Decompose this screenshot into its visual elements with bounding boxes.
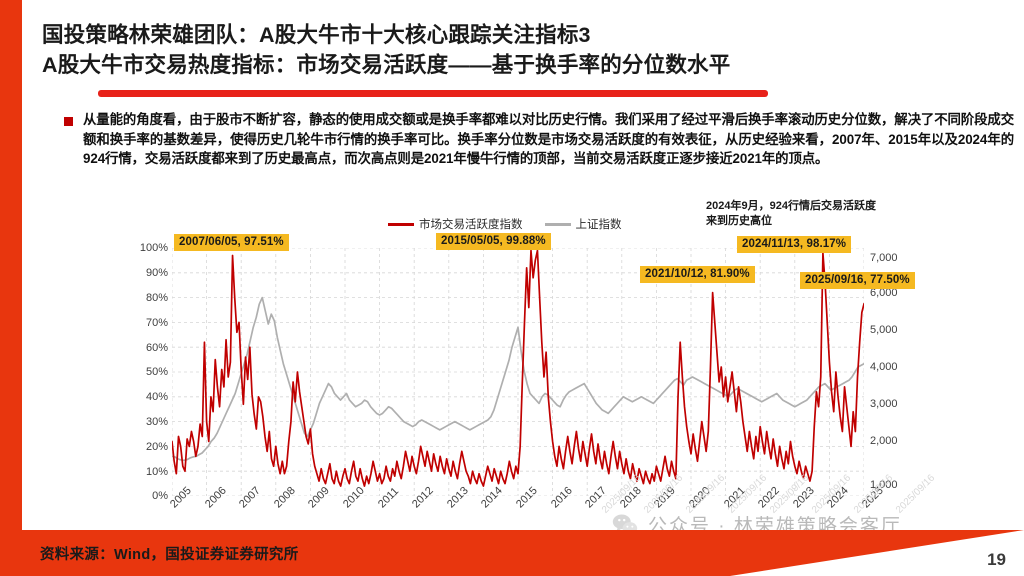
callout-peak-2021: 2021/10/12, 81.90% [640,266,755,283]
title-underline-rule [98,90,768,97]
chart-gridlines [172,248,864,496]
y-tick-90: 90% [124,267,168,279]
y-tick-70: 70% [124,317,168,329]
y-tick-50: 50% [124,366,168,378]
left-accent-bar [0,0,22,576]
callout-peak-2007: 2007/06/05, 97.51% [174,234,289,251]
page-title: 国投策略林荣雄团队：A股大牛市十大核心跟踪关注指标3 A股大牛市交易热度指标：市… [42,20,1022,80]
bullet-square-icon [64,117,73,126]
body-text: 从量能的角度看，由于股市不断扩容，静态的使用成交额或是换手率都难以对比历史行情。… [83,110,1014,169]
y-tick-20: 20% [124,441,168,453]
legend-swatch-red-icon [388,223,414,226]
callout-peak-2024: 2024/11/13, 98.17% [737,236,851,253]
y2-tick-5000: 5,000 [870,324,920,336]
y-tick-40: 40% [124,391,168,403]
callout-current-2025: 2025/09/16, 77.50% [800,272,915,289]
y2-tick-7000: 7,000 [870,252,920,264]
y-tick-0: 0% [124,490,168,502]
y2-tick-2000: 2,000 [870,435,920,447]
legend-item-sse: 上证指数 [545,216,622,232]
y-tick-30: 30% [124,416,168,428]
title-line-1: 国投策略林荣雄团队：A股大牛市十大核心跟踪关注指标3 [42,20,1022,50]
y2-tick-4000: 4,000 [870,361,920,373]
callout-peak-2015: 2015/05/05, 99.88% [436,233,551,250]
legend-swatch-grey-icon [545,223,571,226]
y-tick-10: 10% [124,466,168,478]
legend-label-sse: 上证指数 [576,216,622,232]
source-note: 资料来源：Wind，国投证券证券研究所 [40,543,299,564]
body-paragraph: 从量能的角度看，由于股市不断扩容，静态的使用成交额或是换手率都难以对比历史行情。… [64,110,1014,169]
page-number: 19 [987,550,1006,570]
y-tick-100: 100% [124,242,168,254]
y-tick-60: 60% [124,342,168,354]
legend-label-activity: 市场交易活跃度指数 [419,216,523,232]
chart-legend: 市场交易活跃度指数 上证指数 [388,216,622,232]
chart-svg [172,248,864,496]
legend-item-activity: 市场交易活跃度指数 [388,216,523,232]
y-tick-80: 80% [124,292,168,304]
y2-tick-3000: 3,000 [870,398,920,410]
title-line-2: A股大牛市交易热度指标：市场交易活跃度——基于换手率的分位数水平 [42,50,1022,80]
annotation-note-924: 2024年9月，924行情后交易活跃度来到历史高位 [706,199,876,229]
chart-plot-area [172,248,864,496]
